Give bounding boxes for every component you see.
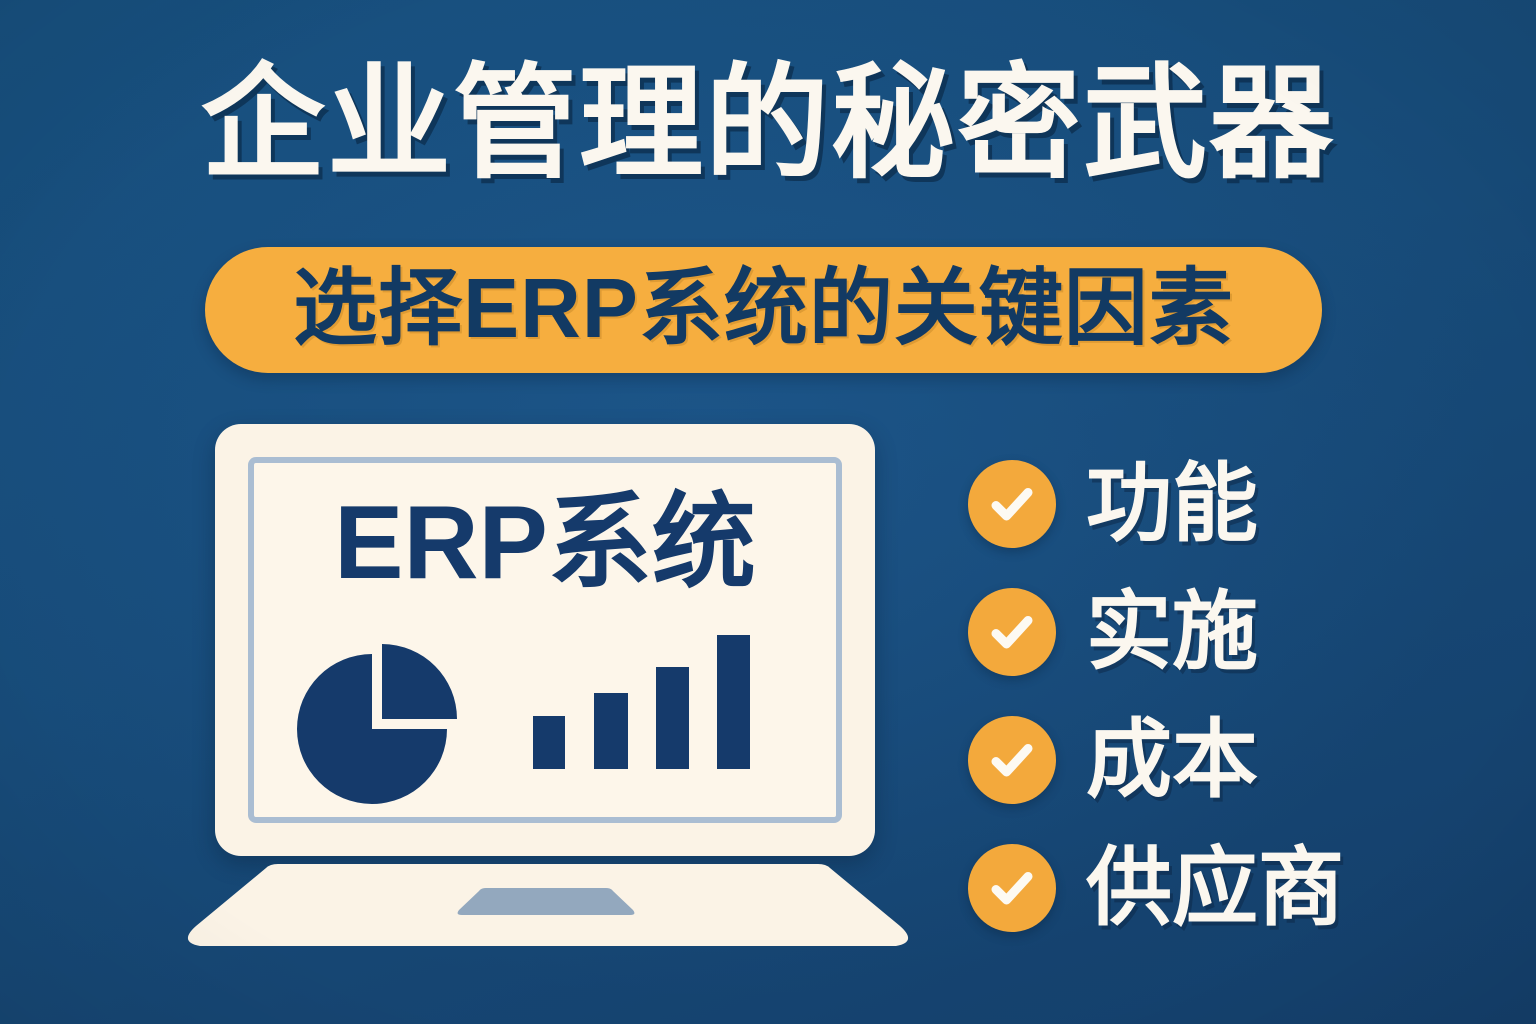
checklist-item-label: 实施 [1086,589,1258,675]
check-icon [968,716,1056,804]
list-item[interactable]: 成本 [968,696,1488,824]
list-item[interactable]: 功能 [968,440,1488,568]
laptop-screen: ERP系统 [248,457,842,823]
checklist: 功能 实施 成本 供应商 [968,440,1488,952]
check-icon [968,844,1056,932]
screen-graphics [254,623,836,823]
laptop-lid: ERP系统 [215,424,875,856]
screen-title: ERP系统 [254,491,836,595]
laptop-trackpad [455,888,637,916]
trackpad-shape [455,888,637,916]
pie-chart-icon [297,644,457,804]
checklist-item-label: 供应商 [1086,845,1344,931]
checklist-item-label: 成本 [1086,717,1258,803]
list-item[interactable]: 供应商 [968,824,1488,952]
bar-chart-icon [533,635,750,769]
check-icon [968,588,1056,676]
list-item[interactable]: 实施 [968,568,1488,696]
poster-canvas: 企业管理的秘密武器 选择ERP系统的关键因素 ERP系统 [0,0,1536,1024]
checklist-item-label: 功能 [1086,461,1258,547]
dashboard-charts-svg [254,623,842,823]
check-icon [968,460,1056,548]
